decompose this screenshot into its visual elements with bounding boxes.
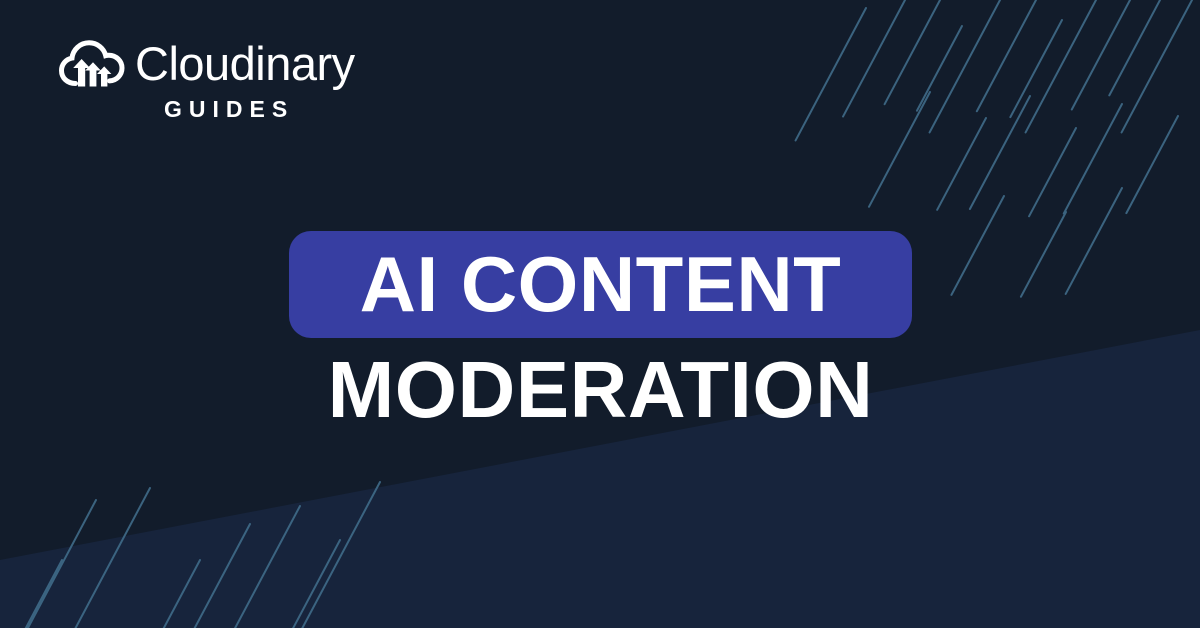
banner-canvas: Cloudinary GUIDES AI CONTENT MODERATION xyxy=(0,0,1200,628)
page-title: AI CONTENT MODERATION xyxy=(289,231,912,430)
brand-wordmark: Cloudinary xyxy=(135,40,355,87)
title-badge-line: AI CONTENT xyxy=(289,231,912,338)
brand-sub-wordmark: GUIDES xyxy=(164,98,355,121)
cloudinary-cloud-arrows-icon xyxy=(59,38,125,88)
brand-logo-row: Cloudinary xyxy=(59,38,355,88)
brand-logo: Cloudinary GUIDES xyxy=(59,38,355,121)
title-plain-line: MODERATION xyxy=(289,350,912,430)
